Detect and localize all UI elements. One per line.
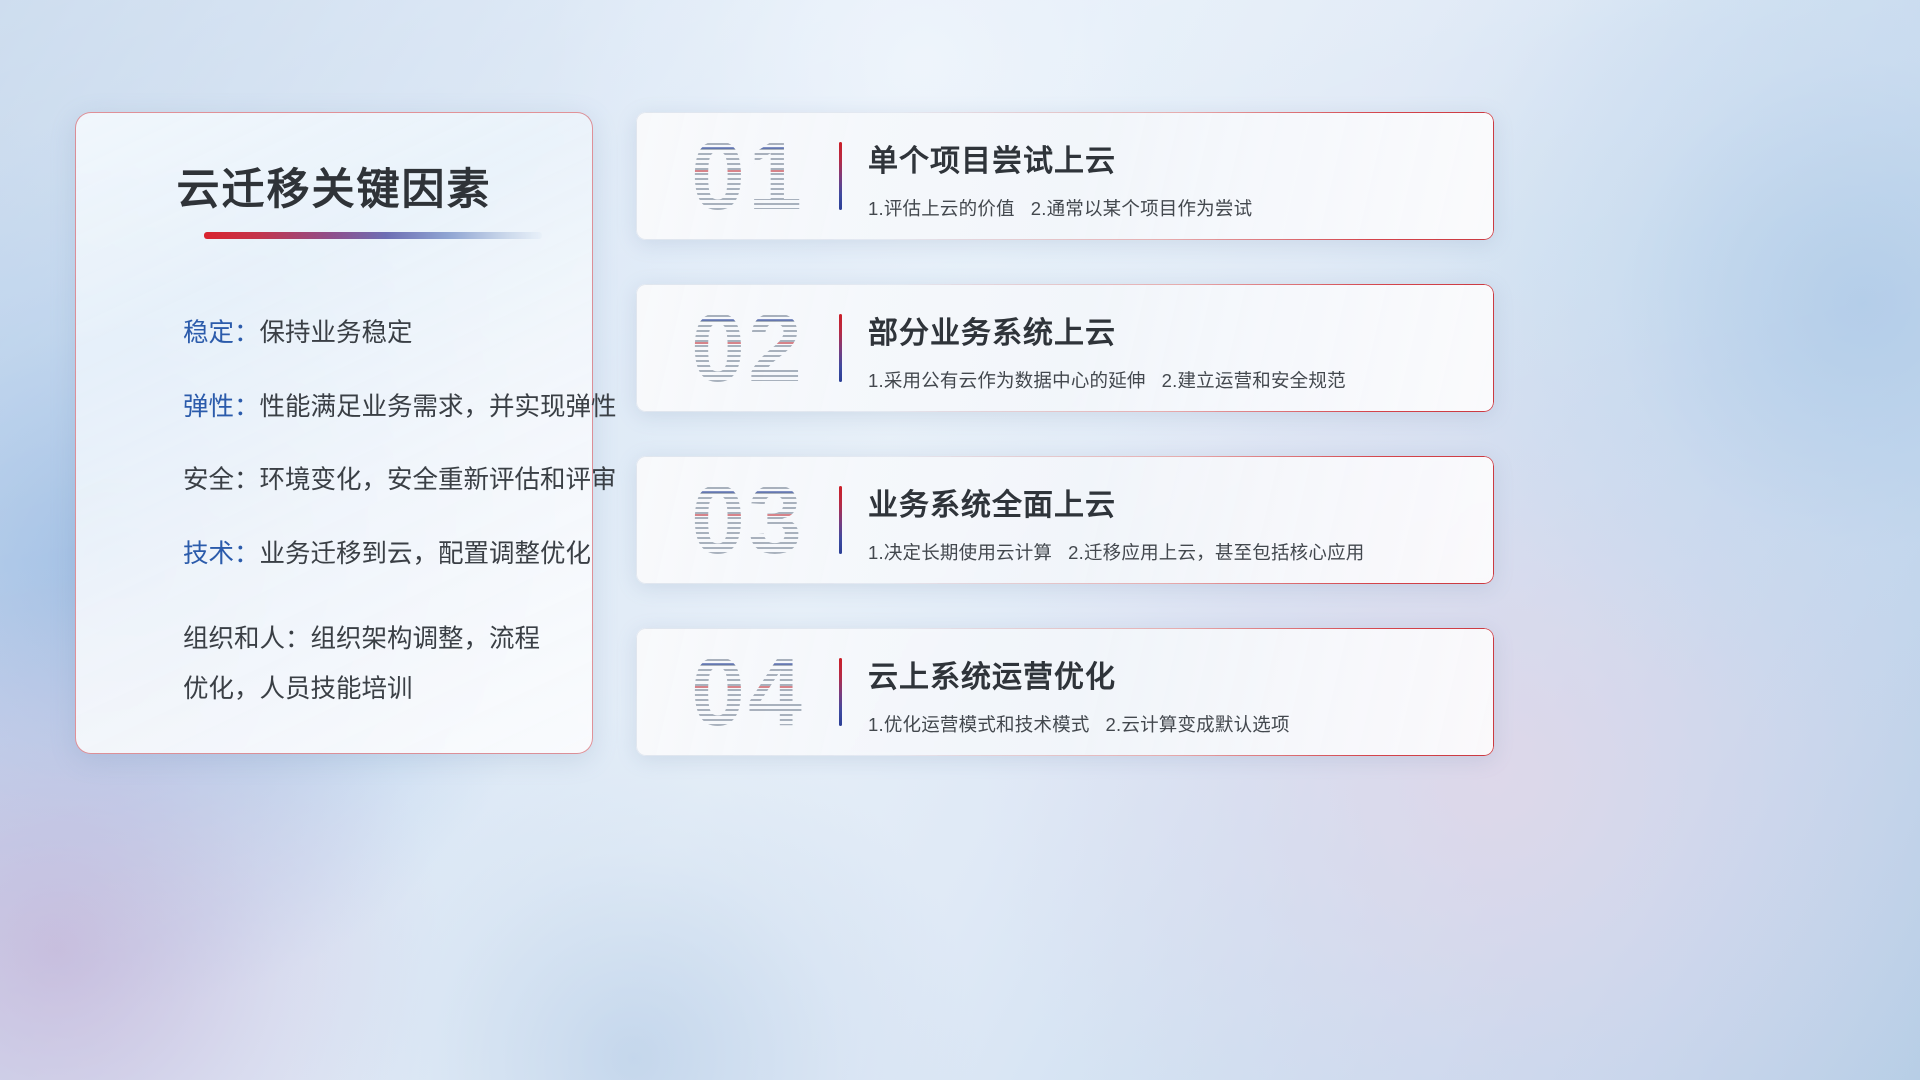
stage-subtitle: 1.优化运营模式和技术模式 2.云计算变成默认选项 [868,711,1476,737]
stage-number-badge: 0303 [658,462,838,578]
key-factor-row: 组织和人：组织架构调整，流程优化，人员技能培训 [183,615,558,714]
key-factor-label: 稳定： [183,319,260,347]
stage-divider-rule [839,658,842,726]
stage-title: 部分业务系统上云 [868,308,1476,352]
stage-title: 业务系统全面上云 [868,480,1476,524]
stage-number-accent-overlay: 01 [658,118,838,234]
stage-card[interactable]: 0101单个项目尝试上云1.评估上云的价值 2.通常以某个项目作为尝试 [636,112,1494,240]
stage-title: 云上系统运营优化 [868,652,1476,696]
key-factor-value: 环境变化，安全重新评估和评审 [260,466,617,494]
key-factor-row: 弹性：性能满足业务需求，并实现弹性 [183,395,558,421]
key-factor-row: 稳定：保持业务稳定 [183,321,558,347]
stage-number-accent-overlay: 04 [658,634,838,750]
stage-body: 部分业务系统上云1.采用公有云作为数据中心的延伸 2.建立运营和安全规范 [868,308,1476,393]
stage-divider-rule [839,142,842,210]
stage-body: 单个项目尝试上云1.评估上云的价值 2.通常以某个项目作为尝试 [868,136,1476,221]
stage-body: 云上系统运营优化1.优化运营模式和技术模式 2.云计算变成默认选项 [868,652,1476,737]
stage-number-badge: 0202 [658,290,838,406]
key-factors-list: 稳定：保持业务稳定弹性：性能满足业务需求，并实现弹性安全：环境变化，安全重新评估… [183,321,558,762]
slide-canvas: 云迁移关键因素 稳定：保持业务稳定弹性：性能满足业务需求，并实现弹性安全：环境变… [0,0,1920,1080]
key-factors-panel: 云迁移关键因素 稳定：保持业务稳定弹性：性能满足业务需求，并实现弹性安全：环境变… [75,112,593,754]
title-underline-rule [204,232,542,239]
stage-subtitle: 1.采用公有云作为数据中心的延伸 2.建立运营和安全规范 [868,367,1476,393]
key-factor-row: 安全：环境变化，安全重新评估和评审 [183,468,558,494]
stage-number-badge: 0101 [658,118,838,234]
stage-subtitle: 1.评估上云的价值 2.通常以某个项目作为尝试 [868,195,1476,221]
stage-number-badge: 0404 [658,634,838,750]
key-factor-label: 技术： [183,540,260,568]
key-factor-value: 保持业务稳定 [260,319,413,347]
page-title: 云迁移关键因素 [76,155,592,217]
stage-card[interactable]: 0404云上系统运营优化1.优化运营模式和技术模式 2.云计算变成默认选项 [636,628,1494,756]
key-factor-label: 安全： [183,466,260,494]
key-factor-label: 组织和人： [183,625,311,653]
stage-body: 业务系统全面上云1.决定长期使用云计算 2.迁移应用上云，甚至包括核心应用 [868,480,1476,565]
stage-divider-rule [839,486,842,554]
stage-card[interactable]: 0303业务系统全面上云1.决定长期使用云计算 2.迁移应用上云，甚至包括核心应… [636,456,1494,584]
key-factor-row: 技术：业务迁移到云，配置调整优化 [183,542,558,568]
stage-number-accent-overlay: 03 [658,462,838,578]
key-factor-label: 弹性： [183,393,260,421]
stage-card[interactable]: 0202部分业务系统上云1.采用公有云作为数据中心的延伸 2.建立运营和安全规范 [636,284,1494,412]
stage-divider-rule [839,314,842,382]
key-factor-value: 业务迁移到云，配置调整优化 [260,540,592,568]
stage-subtitle: 1.决定长期使用云计算 2.迁移应用上云，甚至包括核心应用 [868,539,1476,565]
stage-title: 单个项目尝试上云 [868,136,1476,180]
key-factor-value: 性能满足业务需求，并实现弹性 [260,393,617,421]
stage-number-accent-overlay: 02 [658,290,838,406]
